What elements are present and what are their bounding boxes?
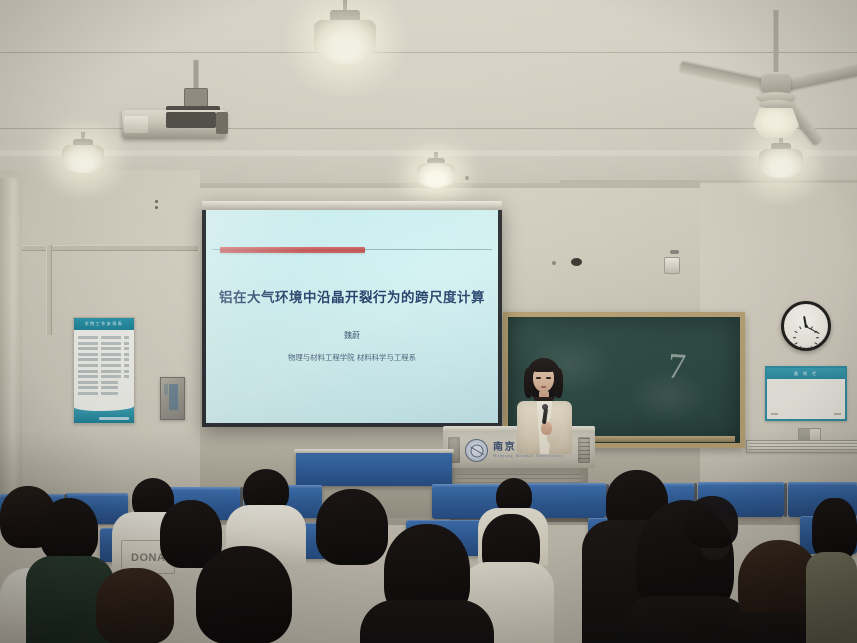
wall-sensor [664, 257, 680, 274]
presenter [508, 358, 582, 454]
wall-trim [746, 440, 857, 453]
slide-accent-bar [220, 247, 365, 253]
notice-board-header: 通 知 栏 [767, 368, 845, 379]
audience-head [40, 498, 98, 562]
poster-rows [78, 336, 130, 395]
notice-board: 通 知 栏 [765, 366, 847, 421]
projection-screen: 铝在大气环境中沿晶开裂行为的跨尺度计算 魏蔚 物理与材料工程学院 材料科学与工程… [206, 210, 498, 423]
wall-poster: 学院工作安排表 [73, 317, 135, 424]
audience-body [806, 552, 857, 643]
wall-sensor-bracket [670, 250, 679, 254]
pendant-light [55, 132, 111, 184]
wall-fixture-dot [552, 261, 556, 265]
audience-head [96, 568, 174, 643]
wall-conduit [560, 180, 857, 183]
ceiling-fan [690, 10, 857, 150]
lecture-hall-photo: 学院工作安排表 [0, 0, 857, 643]
electrical-panel [160, 377, 185, 420]
poster-header-text: 学院工作安排表 [85, 321, 124, 327]
audience-head [812, 498, 857, 560]
wall-conduit-vertical [46, 245, 52, 335]
pendant-light [410, 152, 462, 200]
poster-footer [74, 406, 134, 423]
microphone-head [542, 404, 548, 410]
pendant-light [305, 0, 385, 75]
slide-affiliation: 物理与材料工程学院 材料科学与工程系 [206, 352, 498, 363]
wall-fixture-dot [155, 206, 158, 209]
wall-fixture-dot [155, 200, 158, 203]
audience-head [316, 489, 388, 565]
lecture-desk [296, 452, 452, 486]
ceiling-projector [120, 60, 250, 140]
wall-fixture-dot [465, 176, 469, 180]
wall-clock [781, 301, 831, 351]
poster-header: 学院工作安排表 [74, 318, 134, 330]
audience-body [360, 600, 494, 643]
screen-casing [202, 201, 502, 210]
slide-title: 铝在大气环境中沿晶开裂行为的跨尺度计算 [206, 286, 498, 306]
wall-speaker-dome [571, 258, 582, 266]
audience-head [196, 546, 292, 643]
university-crest-icon [465, 439, 488, 462]
slide-author: 魏蔚 [206, 330, 498, 341]
audience-head [686, 496, 738, 548]
lecture-desk-rim [294, 449, 454, 453]
notice-board-header-text: 通 知 栏 [794, 371, 819, 377]
clock-minute-hand [806, 326, 820, 334]
chalk-mark: 7 [667, 344, 688, 387]
